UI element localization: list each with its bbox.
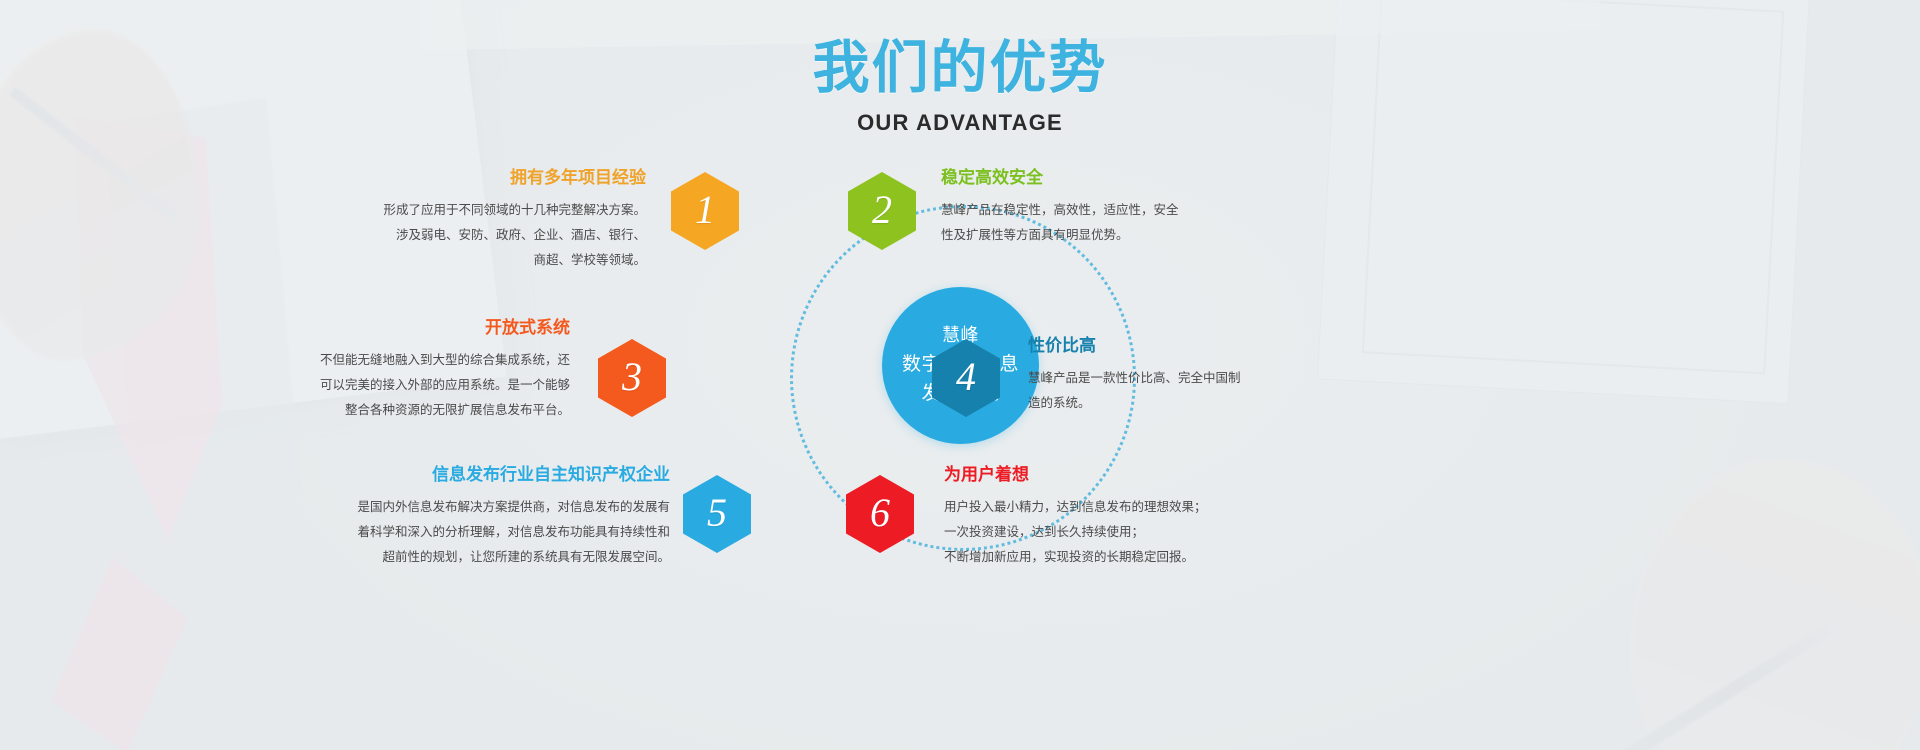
advantage-body-line: 慧峰产品在稳定性，高效性，适应性，安全 bbox=[941, 198, 1271, 223]
hexagon-badge-1[interactable]: 1 bbox=[671, 172, 739, 250]
advantage-body-line: 着科学和深入的分析理解，对信息发布功能具有持续性和 bbox=[333, 520, 670, 545]
advantage-body-line: 不但能无缝地融入到大型的综合集成系统，还 bbox=[270, 348, 570, 373]
advantage-body-line: 可以完美的接入外部的应用系统。是一个能够 bbox=[270, 373, 570, 398]
advantage-body-line: 涉及弱电、安防、政府、企业、酒店、银行、 bbox=[336, 223, 646, 248]
advantage-body-line: 造的系统。 bbox=[1028, 391, 1328, 416]
advantage-item-6: 为用户着想 用户投入最小精力，达到信息发布的理想效果；一次投资建设，达到长久持续… bbox=[944, 465, 1284, 570]
hexagon-number-1: 1 bbox=[695, 190, 715, 230]
hexagon-number-5: 5 bbox=[707, 493, 727, 533]
advantage-body-line: 整合各种资源的无限扩展信息发布平台。 bbox=[270, 398, 570, 423]
advantage-title-4: 性价比高 bbox=[1028, 336, 1328, 356]
advantage-item-5: 信息发布行业自主知识产权企业 是国内外信息发布解决方案提供商，对信息发布的发展有… bbox=[333, 465, 670, 570]
advantage-title-6: 为用户着想 bbox=[944, 465, 1284, 485]
advantage-item-1: 拥有多年项目经验 形成了应用于不同领域的十几种完整解决方案。涉及弱电、安防、政府… bbox=[336, 168, 646, 273]
advantage-body-line: 是国内外信息发布解决方案提供商，对信息发布的发展有 bbox=[333, 495, 670, 520]
advantage-infographic: 我们的优势 OUR ADVANTAGE 慧峰 数字媒体信息 发布系统 1 2 3… bbox=[0, 0, 1920, 750]
advantage-body-line: 形成了应用于不同领域的十几种完整解决方案。 bbox=[336, 198, 646, 223]
advantage-body-line: 用户投入最小精力，达到信息发布的理想效果； bbox=[944, 495, 1284, 520]
advantage-body-6: 用户投入最小精力，达到信息发布的理想效果；一次投资建设，达到长久持续使用；不断增… bbox=[944, 495, 1284, 570]
advantage-item-4: 性价比高 慧峰产品是一款性价比高、完全中国制造的系统。 bbox=[1028, 336, 1328, 416]
advantage-body-5: 是国内外信息发布解决方案提供商，对信息发布的发展有着科学和深入的分析理解，对信息… bbox=[333, 495, 670, 570]
hexagon-badge-5[interactable]: 5 bbox=[683, 475, 751, 553]
advantage-body-line: 慧峰产品是一款性价比高、完全中国制 bbox=[1028, 366, 1328, 391]
advantage-body-4: 慧峰产品是一款性价比高、完全中国制造的系统。 bbox=[1028, 366, 1328, 416]
advantage-body-2: 慧峰产品在稳定性，高效性，适应性，安全性及扩展性等方面具有明显优势。 bbox=[941, 198, 1271, 248]
advantage-body-1: 形成了应用于不同领域的十几种完整解决方案。涉及弱电、安防、政府、企业、酒店、银行… bbox=[336, 198, 646, 273]
advantage-body-3: 不但能无缝地融入到大型的综合集成系统，还可以完美的接入外部的应用系统。是一个能够… bbox=[270, 348, 570, 423]
hexagon-number-6: 6 bbox=[870, 493, 890, 533]
advantage-body-line: 性及扩展性等方面具有明显优势。 bbox=[941, 223, 1271, 248]
hexagon-number-3: 3 bbox=[622, 357, 642, 397]
advantage-body-line: 超前性的规划，让您所建的系统具有无限发展空间。 bbox=[333, 545, 670, 570]
page-subtitle: OUR ADVANTAGE bbox=[0, 110, 1920, 136]
page-header: 我们的优势 OUR ADVANTAGE bbox=[0, 38, 1920, 136]
advantage-body-line: 商超、学校等领域。 bbox=[336, 248, 646, 273]
advantage-body-line: 一次投资建设，达到长久持续使用； bbox=[944, 520, 1284, 545]
advantage-item-2: 稳定高效安全 慧峰产品在稳定性，高效性，适应性，安全性及扩展性等方面具有明显优势… bbox=[941, 168, 1271, 248]
page-title: 我们的优势 bbox=[0, 38, 1920, 100]
advantage-body-line: 不断增加新应用，实现投资的长期稳定回报。 bbox=[944, 545, 1284, 570]
advantage-title-5: 信息发布行业自主知识产权企业 bbox=[333, 465, 670, 485]
advantage-title-1: 拥有多年项目经验 bbox=[336, 168, 646, 188]
advantage-title-2: 稳定高效安全 bbox=[941, 168, 1271, 188]
advantage-title-3: 开放式系统 bbox=[270, 318, 570, 338]
hexagon-number-2: 2 bbox=[872, 190, 892, 230]
hexagon-number-4: 4 bbox=[956, 357, 976, 397]
advantage-item-3: 开放式系统 不但能无缝地融入到大型的综合集成系统，还可以完美的接入外部的应用系统… bbox=[270, 318, 570, 423]
hexagon-badge-3[interactable]: 3 bbox=[598, 339, 666, 417]
